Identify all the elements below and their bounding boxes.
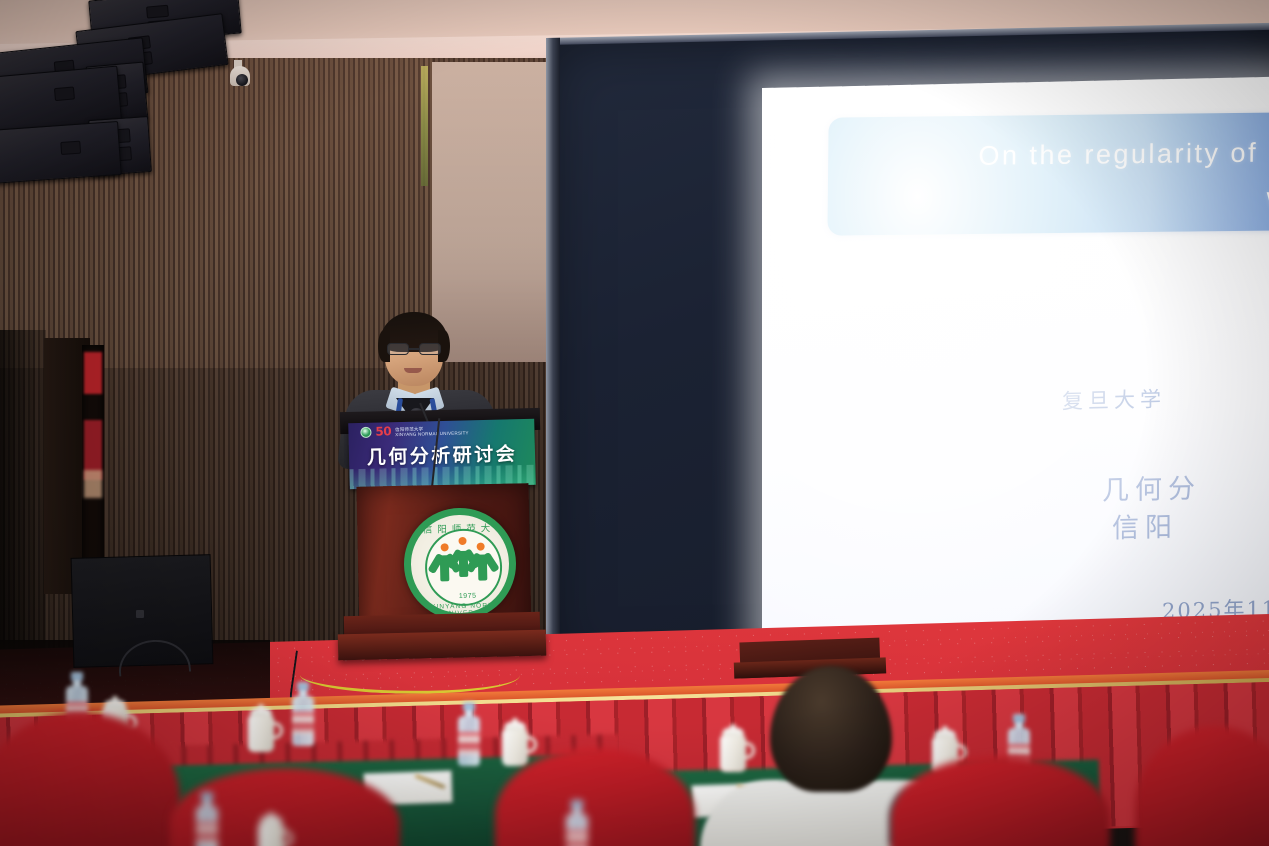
- tea-mug: [246, 708, 276, 752]
- mug-cup: [720, 736, 746, 772]
- tea-mug: [256, 816, 286, 846]
- banner-logo-text: 信阳师范大学 XINYANG NORMAL UNIVERSITY: [395, 425, 469, 437]
- water-bottle: [566, 800, 588, 846]
- mug-cup: [248, 716, 274, 752]
- slide-event-name: 几何分 信阳: [1102, 463, 1269, 549]
- slide-title-line-1: On the regularity of: [978, 138, 1258, 171]
- podium-base-lower: [338, 630, 547, 661]
- camera-lens-icon: [236, 74, 248, 86]
- university-emblem: 信阳师范大学 1975 XINYANG NORMAL UNIVERSITY: [403, 507, 517, 621]
- podium-banner-title: 几何分析研讨会: [349, 439, 536, 471]
- banner-logo-group: 50 信阳师范大学 XINYANG NORMAL UNIVERSITY: [360, 424, 468, 438]
- bottle-label: [566, 830, 588, 846]
- projected-slide: On the regularity of with cer 复旦大学 几何分 信…: [762, 77, 1269, 648]
- tea-mug: [500, 722, 530, 766]
- mug-cup: [258, 824, 284, 846]
- presenter-mouth: [404, 368, 422, 373]
- water-bottle: [196, 792, 218, 846]
- bottle-label: [458, 732, 480, 754]
- bottle-label: [292, 712, 314, 734]
- mug-cup: [502, 730, 528, 766]
- monitor-badge-icon: [136, 610, 144, 618]
- glasses-lens-left: [387, 343, 409, 355]
- podium-banner: 50 信阳师范大学 XINYANG NORMAL UNIVERSITY 几何分析…: [348, 419, 536, 490]
- line-array-speaker-cluster: [0, 0, 260, 200]
- banner-logo-text-en: XINYANG NORMAL UNIVERSITY: [395, 430, 469, 437]
- emblem-founded-year: 1975: [412, 592, 518, 601]
- slide-title: On the regularity of with cer: [848, 129, 1269, 225]
- door-interior-person: [84, 470, 102, 498]
- tea-mug: [718, 728, 748, 772]
- water-bottle: [292, 682, 314, 746]
- glasses-bridge: [409, 348, 419, 350]
- emblem-figures-icon: [431, 540, 496, 589]
- conference-hall-scene: On the regularity of with cer 复旦大学 几何分 信…: [0, 0, 1269, 846]
- slide-event-line-1: 几何分: [1102, 473, 1201, 506]
- emblem-dot-right: [477, 542, 485, 550]
- university-seal-icon: [360, 427, 371, 438]
- bottle-label: [196, 822, 218, 844]
- glasses-icon: [387, 343, 443, 356]
- speaker-cabinet: [0, 121, 122, 185]
- emblem-dot-center: [458, 537, 466, 545]
- door-interior-red-seat-upper: [84, 352, 102, 394]
- slide-title-line-2: with cer: [848, 174, 1269, 225]
- screen-wall-left-trim: [546, 38, 560, 658]
- emblem-dot-left: [441, 543, 449, 551]
- slide-event-line-2: 信阳: [1102, 501, 1269, 549]
- slide-affiliation: 复旦大学: [1062, 376, 1269, 415]
- water-bottle: [458, 702, 480, 766]
- anniversary-logo: 50: [375, 426, 391, 437]
- glasses-lens-right: [419, 343, 441, 355]
- wall-left-shadow: [0, 330, 46, 680]
